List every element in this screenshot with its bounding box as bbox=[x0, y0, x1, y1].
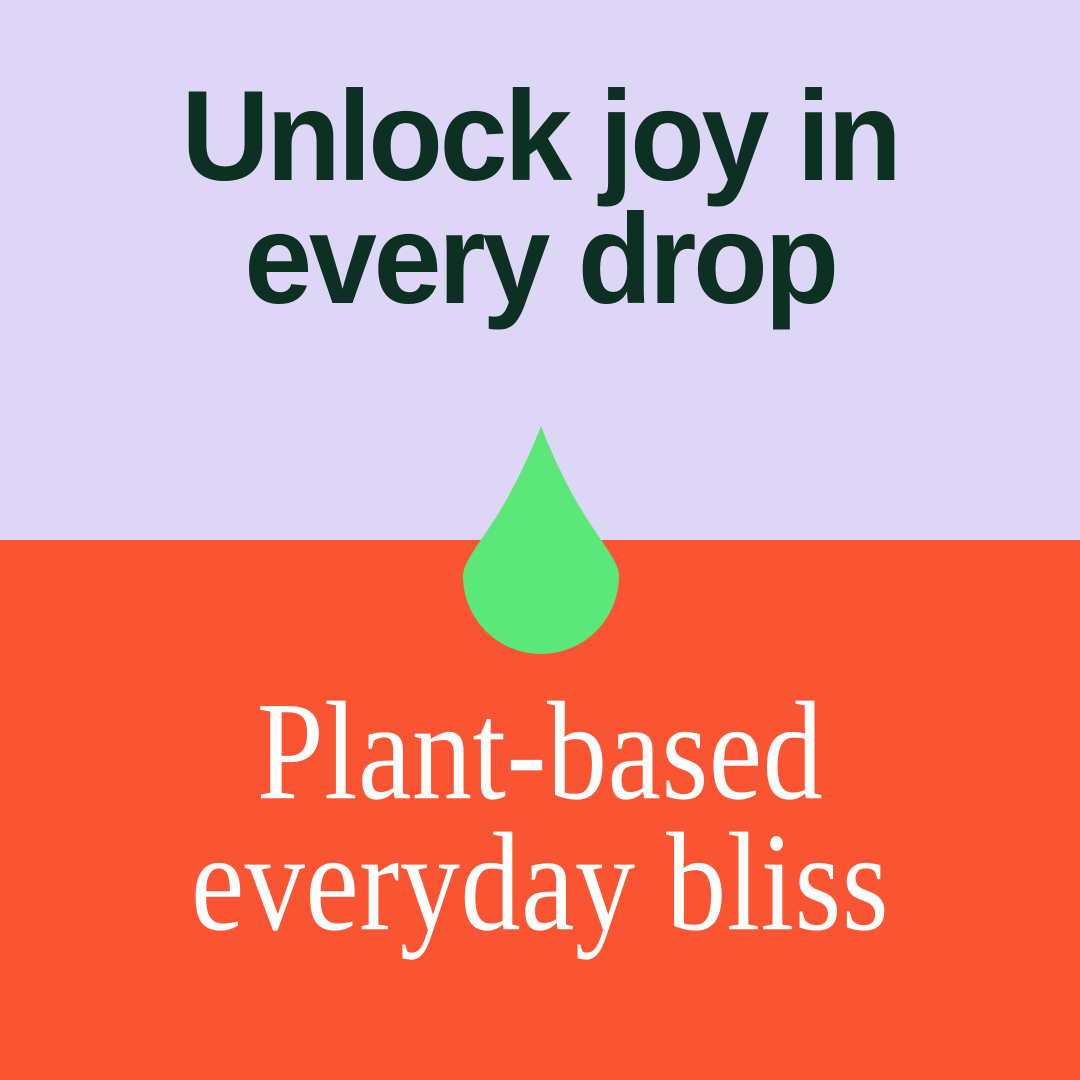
poster-canvas: Unlock joy in every drop Plant-based eve… bbox=[0, 0, 1080, 1080]
headline-line-1: Unlock joy in bbox=[24, 76, 1055, 199]
subline-line-2: everyday bliss bbox=[32, 810, 1047, 954]
headline-block: Unlock joy in every drop bbox=[0, 76, 1080, 322]
droplet-graphic bbox=[460, 420, 622, 654]
subline-line-1: Plant-based bbox=[32, 679, 1047, 823]
subline-block: Plant-based everyday bliss bbox=[0, 686, 1080, 947]
headline-line-2: every drop bbox=[24, 199, 1055, 322]
water-droplet-icon bbox=[463, 426, 619, 654]
